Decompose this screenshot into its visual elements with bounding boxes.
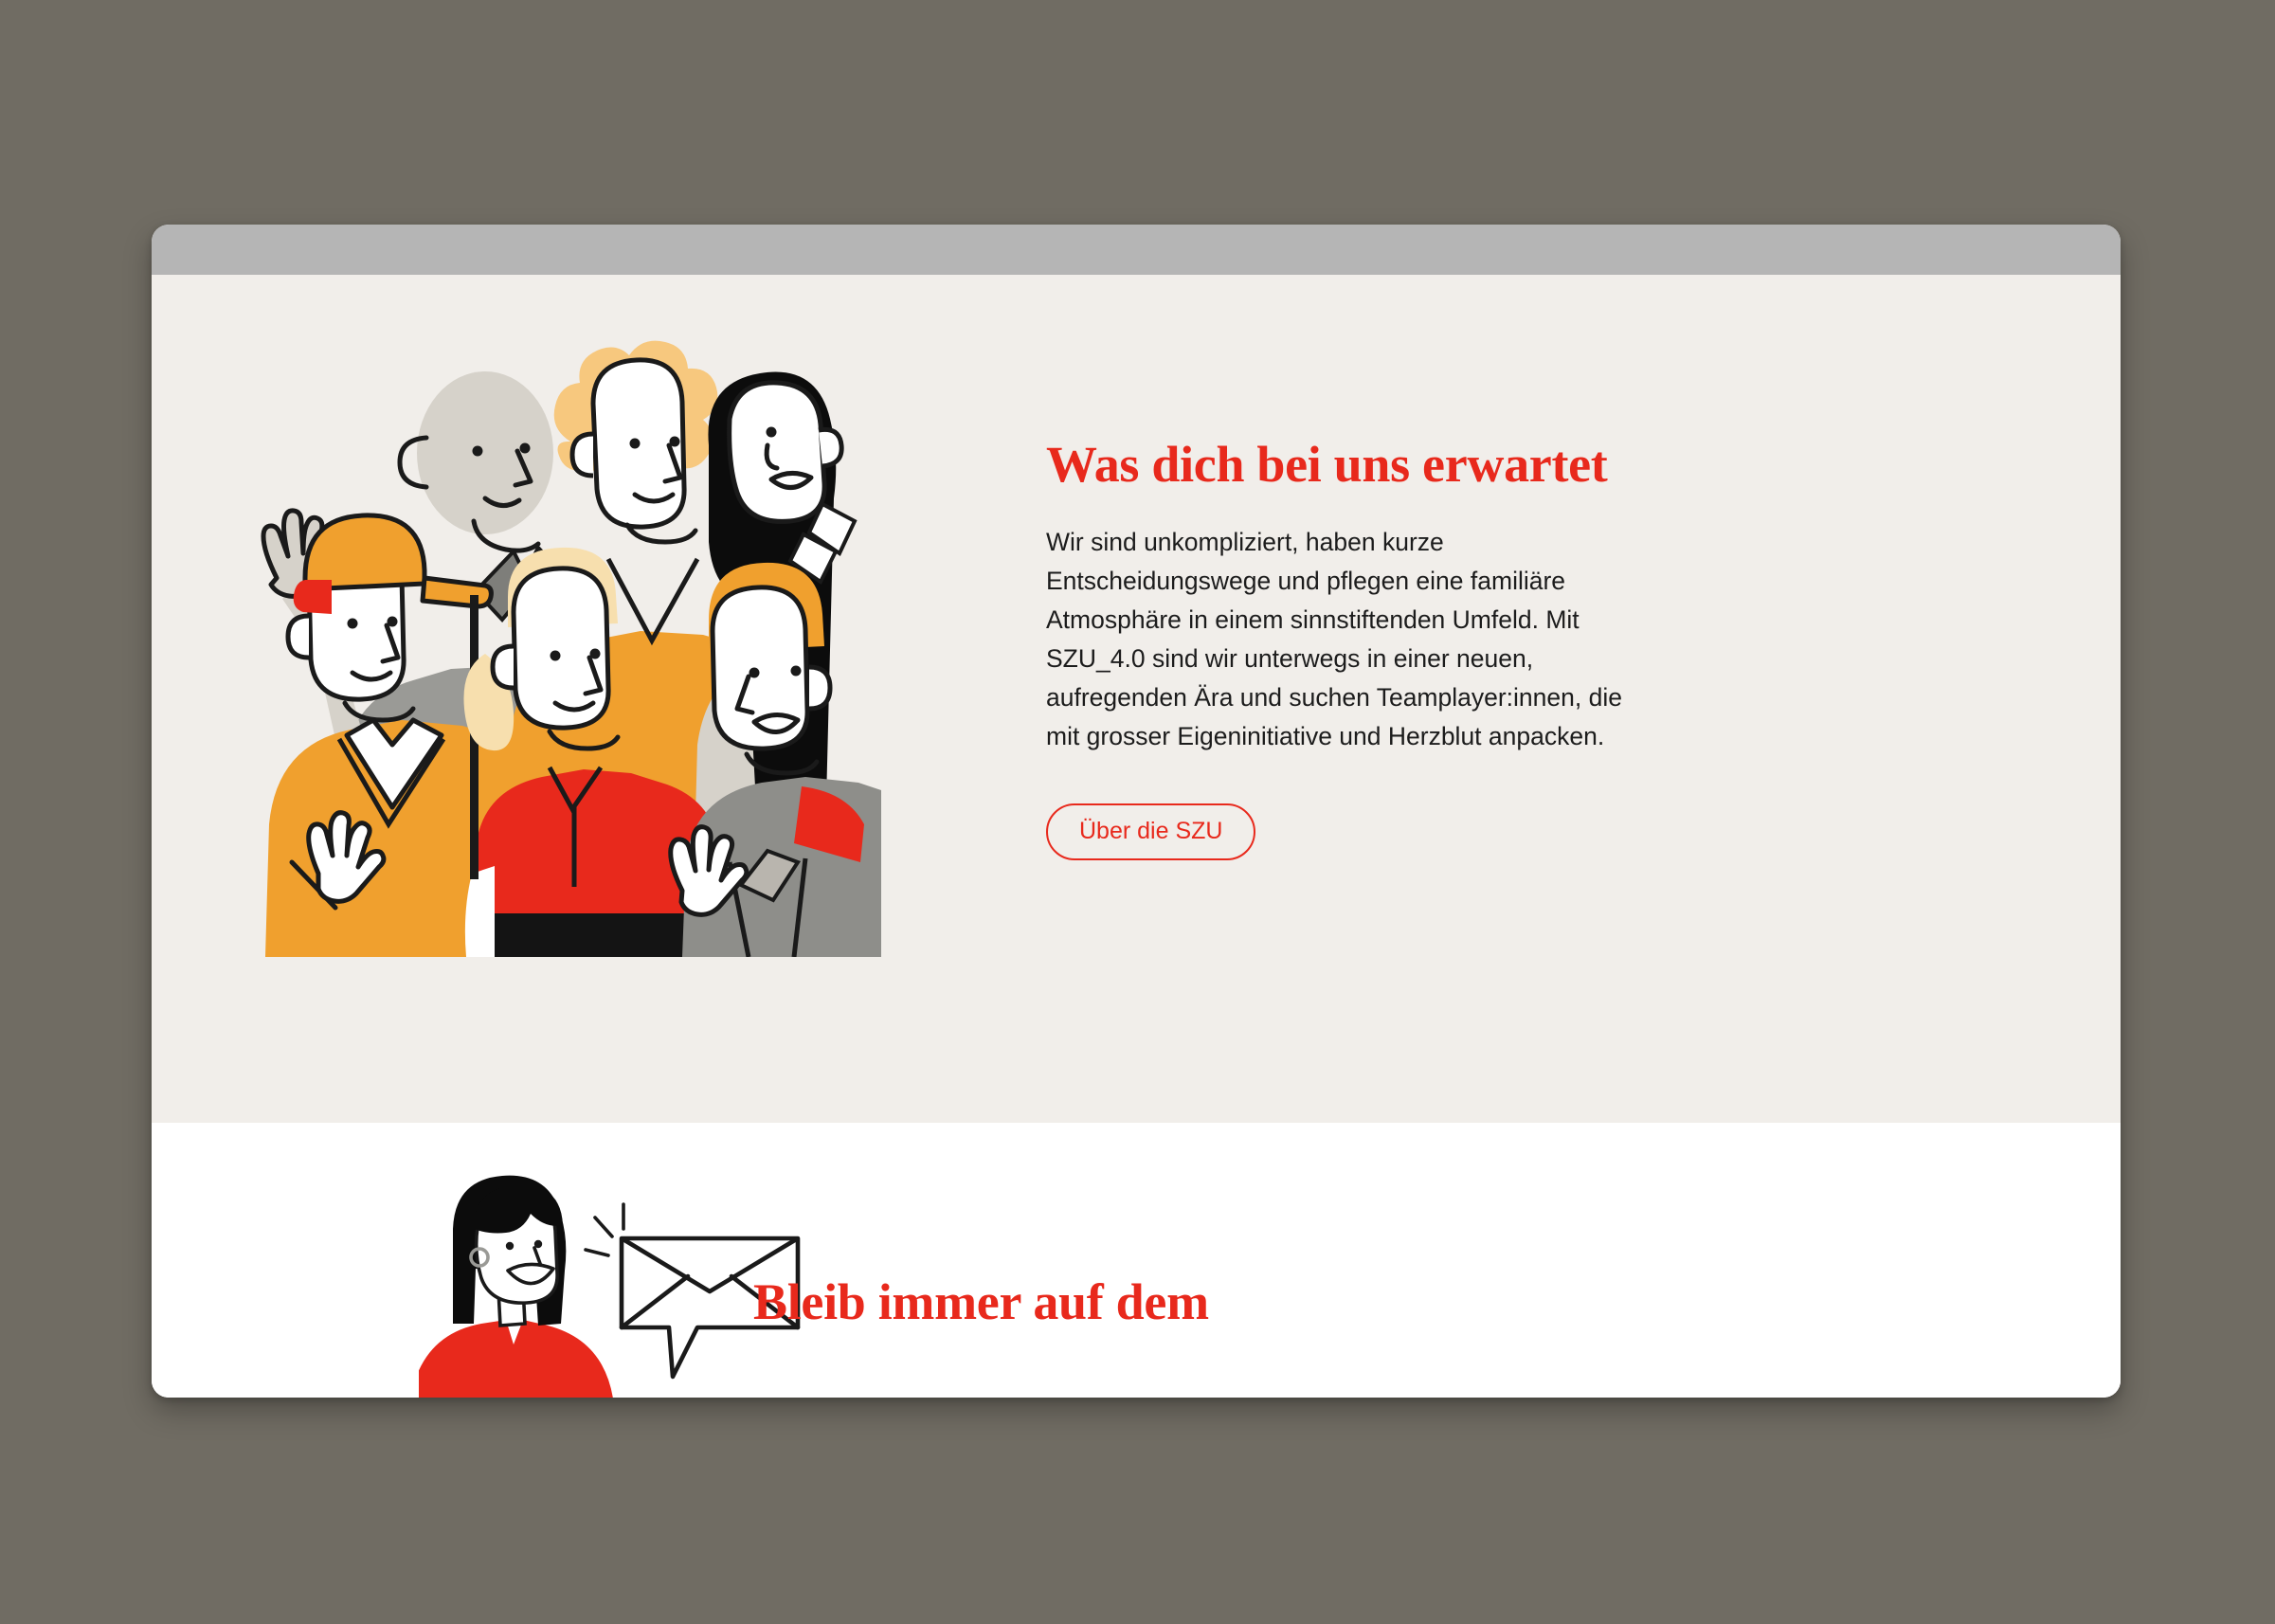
page-title: Was dich bei uns erwartet bbox=[1046, 438, 1652, 491]
hero-text-block: Was dich bei uns erwartet Wir sind unkom… bbox=[1046, 438, 1652, 860]
newsletter-section: Bleib immer auf dem bbox=[152, 1123, 2121, 1398]
window-titlebar[interactable] bbox=[152, 225, 2121, 275]
hero-description: Wir sind unkompliziert, haben kurze Ents… bbox=[1046, 523, 1643, 756]
page-viewport: Was dich bei uns erwartet Wir sind unkom… bbox=[152, 275, 2121, 1398]
app-window: Was dich bei uns erwartet Wir sind unkom… bbox=[152, 225, 2121, 1398]
about-szu-button[interactable]: Über die SZU bbox=[1046, 803, 1255, 860]
team-group-waving-illustration bbox=[237, 294, 881, 957]
desktop-backdrop: Was dich bei uns erwartet Wir sind unkom… bbox=[0, 0, 2275, 1624]
newsletter-title: Bleib immer auf dem bbox=[753, 1275, 1209, 1329]
hero-section: Was dich bei uns erwartet Wir sind unkom… bbox=[152, 275, 2121, 1123]
